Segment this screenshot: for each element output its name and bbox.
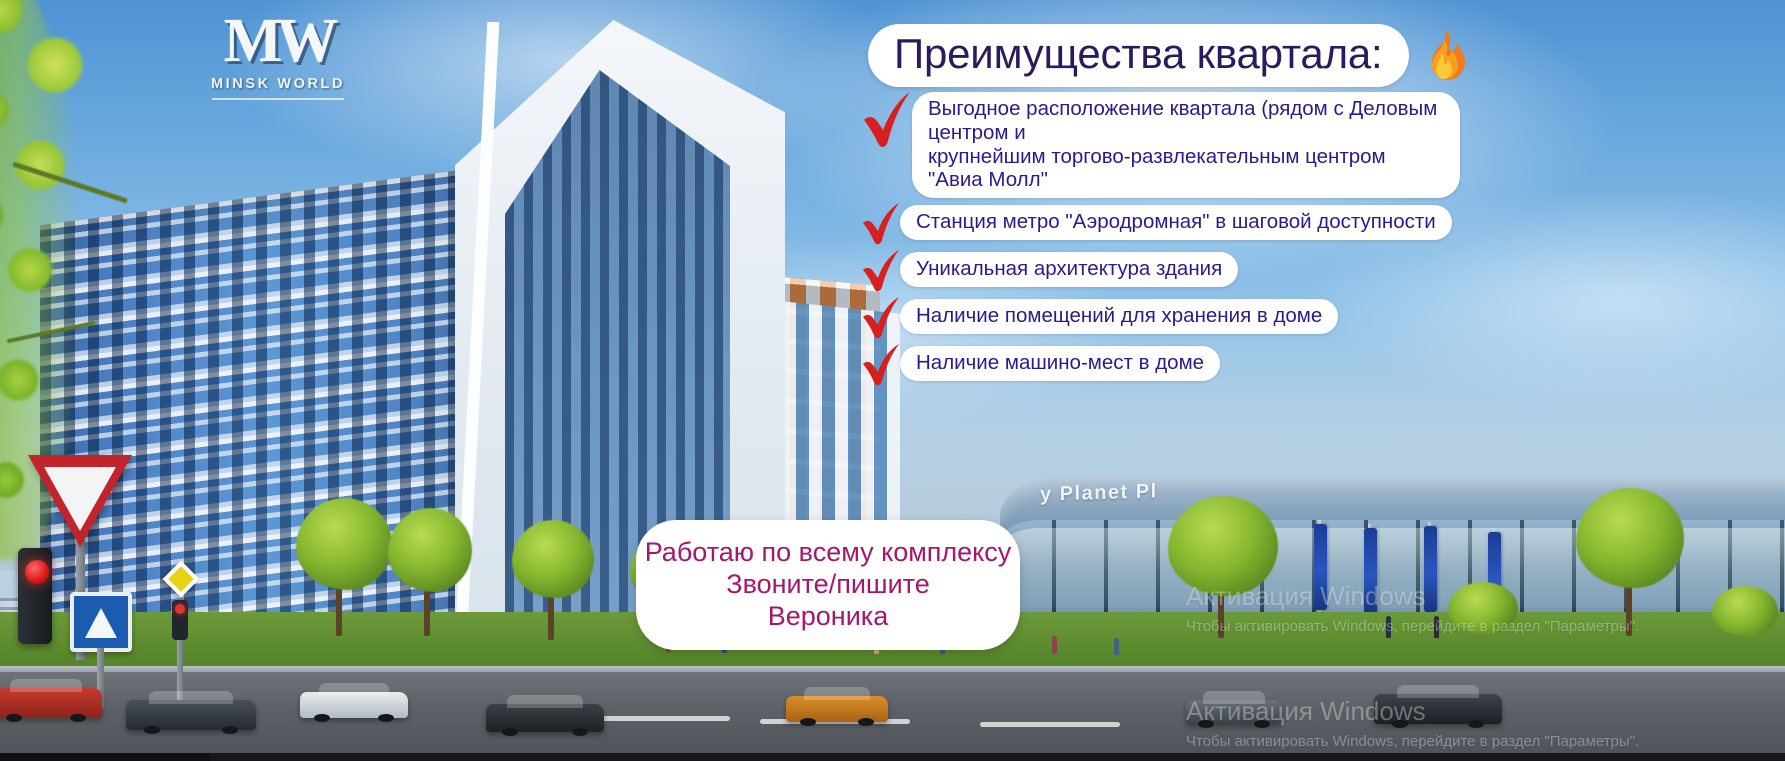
benefit-item: Уникальная архитектура здания (860, 252, 1460, 292)
poster-canvas: y Planet Pl (0, 0, 1785, 761)
street-tree (296, 498, 392, 590)
car (0, 688, 102, 718)
benefit-text: Выгодное расположение квартала (рядом с … (912, 92, 1460, 198)
car (1374, 694, 1502, 724)
benefits-list: Выгодное расположение квартала (рядом с … (860, 92, 1460, 393)
contact-line-name: Вероника (768, 601, 888, 633)
car (300, 692, 408, 718)
yield-sign (28, 455, 132, 547)
benefit-text: Наличие помещений для хранения в доме (900, 299, 1338, 334)
benefit-text: Наличие машино-мест в доме (900, 346, 1220, 381)
contact-line-call: Звоните/пишите (726, 569, 929, 601)
street-tree (388, 508, 472, 592)
red-checkmark-icon (860, 201, 904, 245)
benefit-item: Выгодное расположение квартала (рядом с … (860, 92, 1460, 198)
traffic-light-small-red-lamp (175, 604, 185, 614)
street-tree (1168, 496, 1278, 596)
car (786, 696, 888, 722)
contact-card: Работаю по всему комплексу Звоните/пишит… (636, 520, 1020, 650)
page-title: Преимущества квартала: (868, 24, 1409, 87)
benefit-item: Станция метро "Аэродромная" в шаговой до… (860, 205, 1460, 245)
banner-flag (1364, 528, 1377, 614)
benefit-item: Наличие помещений для хранения в доме (860, 299, 1460, 339)
red-checkmark-icon (860, 342, 904, 386)
pedestrian (1114, 638, 1119, 655)
logo-monogram: MW (198, 12, 358, 71)
car (1186, 700, 1282, 724)
foreground-tree-foliage (0, 0, 190, 530)
road-marking (980, 722, 1120, 727)
logo-wordmark: MINSK WORLD (198, 76, 358, 92)
logo-divider (212, 98, 344, 100)
road (0, 672, 1785, 761)
flame-icon (1419, 28, 1465, 84)
brand-logo: MW MINSK WORLD (198, 12, 358, 100)
street-tree (512, 520, 594, 598)
banner-flag (1314, 524, 1327, 610)
shrub (1448, 582, 1518, 634)
red-checkmark-icon (860, 295, 904, 339)
benefit-text: Станция метро "Аэродромная" в шаговой до… (900, 205, 1452, 240)
contact-line-service: Работаю по всему комплексу (645, 537, 1012, 569)
red-checkmark-icon (860, 248, 904, 292)
pedestrian-crossing-sign (70, 592, 132, 652)
pedestrian (1386, 616, 1391, 638)
traffic-light-red-lamp (25, 560, 49, 584)
pedestrian-icon (85, 608, 117, 638)
car (126, 700, 256, 730)
pedestrian (1052, 636, 1057, 654)
bottom-bar-inner (210, 753, 1785, 761)
banner-flag (1424, 526, 1437, 612)
headline-row: Преимущества квартала: (868, 24, 1465, 87)
benefit-text: Уникальная архитектура здания (900, 252, 1238, 287)
mall-sign-text: y Planet Pl (1040, 480, 1158, 506)
street-tree (1576, 488, 1684, 588)
shrub (1712, 586, 1778, 636)
car (486, 704, 604, 732)
red-checkmark-icon (860, 90, 916, 150)
benefit-item: Наличие машино-мест в доме (860, 346, 1460, 386)
pedestrian (1434, 616, 1439, 638)
